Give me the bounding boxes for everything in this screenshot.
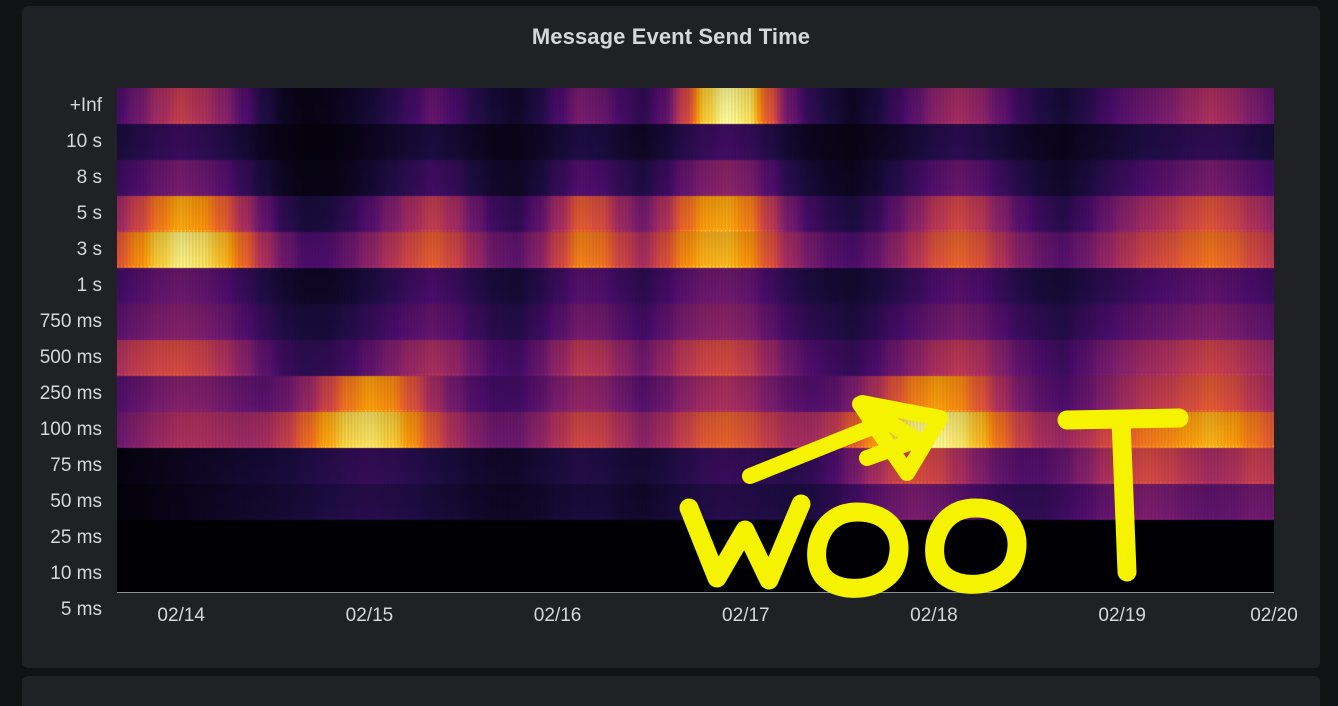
heatmap-panel: Message Event Send Time +Inf10 s8 s5 s3 … [22,6,1320,668]
x-tick-label: 02/17 [722,606,770,625]
next-panel [22,676,1320,706]
y-tick-label: 1 s [77,276,102,295]
y-tick-label: 500 ms [40,348,102,367]
y-tick-label: 8 s [77,168,102,187]
x-axis-line [117,592,1274,593]
y-tick-label: 250 ms [40,384,102,403]
y-tick-label: 100 ms [40,420,102,439]
plot-area: +Inf10 s8 s5 s3 s1 s750 ms500 ms250 ms10… [117,88,1274,598]
x-tick-label: 02/19 [1098,606,1146,625]
x-tick-label: 02/18 [910,606,958,625]
y-tick-label: 10 s [66,132,102,151]
x-tick-label: 02/16 [534,606,582,625]
y-tick-label: 75 ms [50,456,102,475]
y-tick-label: 50 ms [50,492,102,511]
y-tick-label: 750 ms [40,312,102,331]
x-tick-label: 02/15 [346,606,394,625]
y-tick-label: 5 s [77,204,102,223]
screen: Message Event Send Time +Inf10 s8 s5 s3 … [0,0,1338,706]
y-tick-label: 5 ms [61,600,102,619]
y-tick-label: 3 s [77,240,102,259]
x-tick-label: 02/20 [1250,606,1298,625]
y-tick-label: 10 ms [50,564,102,583]
x-tick-label: 02/14 [157,606,205,625]
y-tick-label: 25 ms [50,528,102,547]
page-title: Message Event Send Time [22,24,1320,50]
y-tick-label: +Inf [70,96,102,115]
heatmap-canvas[interactable] [117,88,1274,592]
